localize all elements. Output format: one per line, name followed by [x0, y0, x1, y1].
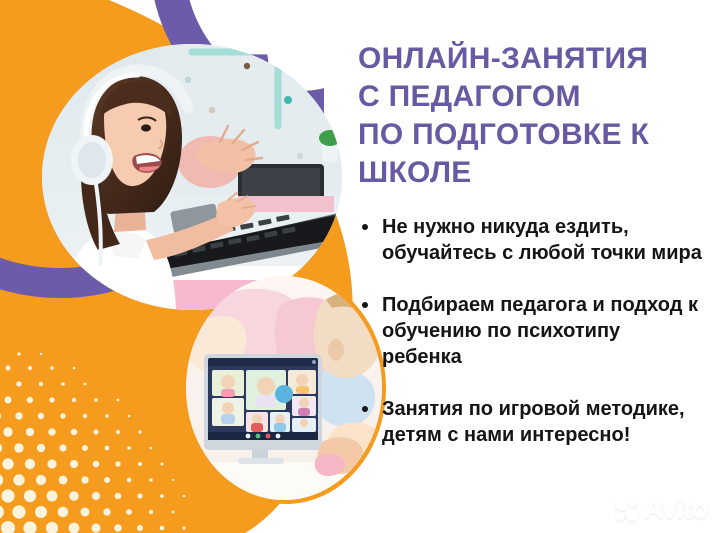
text-column: ОНЛАЙН-ЗАНЯТИЯ С ПЕДАГОГОМ ПО ПОДГОТОВКЕ… — [358, 40, 702, 474]
poster-canvas: ОНЛАЙН-ЗАНЯТИЯ С ПЕДАГОГОМ ПО ПОДГОТОВКЕ… — [0, 0, 720, 533]
list-item: Не нужно никуда ездить, обучайтесь с люб… — [358, 214, 702, 266]
page-title: ОНЛАЙН-ЗАНЯТИЯ С ПЕДАГОГОМ ПО ПОДГОТОВКЕ… — [358, 40, 702, 192]
benefits-list: Не нужно никуда ездить, обучайтесь с люб… — [358, 214, 702, 448]
avito-watermark: Avito — [614, 496, 708, 523]
list-item: Занятия по игровой методике, детям с нам… — [358, 396, 702, 448]
main-photo-girl-with-headphones — [42, 44, 342, 310]
list-item: Подбираем педагога и подход к обучению п… — [358, 292, 702, 370]
avito-brand-text: Avito — [644, 496, 708, 523]
avito-logo-icon — [614, 497, 640, 523]
second-photo-online-lesson — [186, 276, 382, 500]
